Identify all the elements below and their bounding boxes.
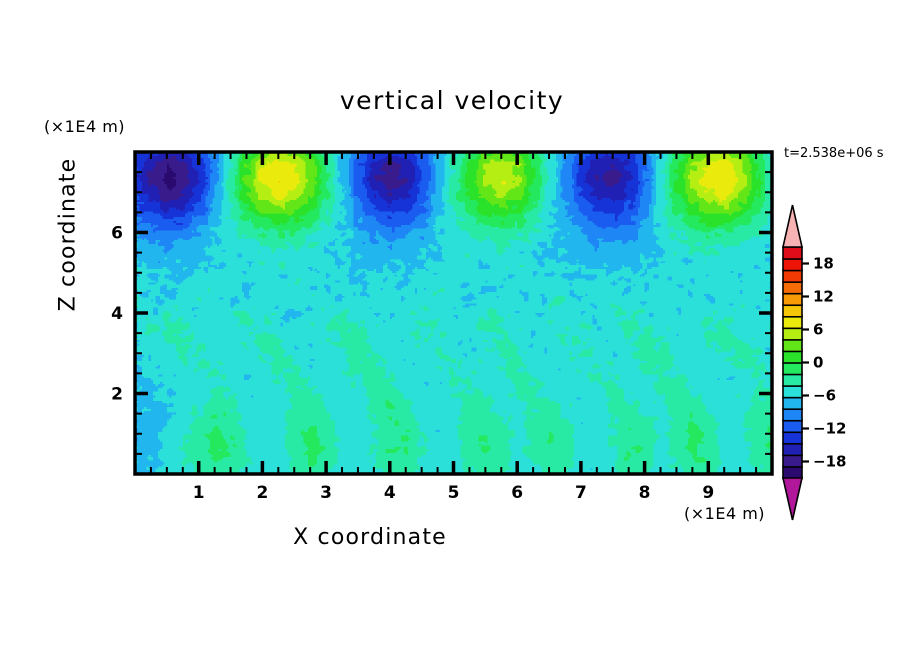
colorbar-band bbox=[783, 282, 802, 294]
colorbar-cap-low bbox=[783, 478, 802, 520]
colorbar-cap-high bbox=[783, 205, 802, 247]
colorbar-tick-label: 12 bbox=[813, 288, 834, 306]
colorbar-band bbox=[783, 420, 802, 432]
y-tick-label: 4 bbox=[111, 304, 123, 324]
x-tick-label: 7 bbox=[575, 483, 587, 503]
colorbar-band bbox=[783, 455, 802, 467]
x-tick-label: 8 bbox=[639, 483, 651, 503]
colorbar-band bbox=[783, 328, 802, 340]
colorbar-band bbox=[783, 432, 802, 444]
contour-plot: 123456789 246 181260−6−12−18 bbox=[0, 0, 904, 654]
colorbar-band bbox=[783, 247, 802, 259]
colorbar-band bbox=[783, 259, 802, 271]
colorbar-tick-label: −18 bbox=[813, 453, 846, 471]
colorbar-tick-label: −6 bbox=[813, 387, 836, 405]
colorbar-band bbox=[783, 386, 802, 398]
x-tick-label: 5 bbox=[448, 483, 460, 503]
x-tick-label: 1 bbox=[193, 483, 205, 503]
x-tick-label: 3 bbox=[320, 483, 332, 503]
colorbar-band bbox=[783, 409, 802, 421]
colorbar-tick-label: −12 bbox=[813, 420, 846, 438]
colorbar-tick-label: 18 bbox=[813, 255, 834, 273]
colorbar-tick-label: 6 bbox=[813, 321, 823, 339]
colorbar-band bbox=[783, 339, 802, 351]
colorbar-band bbox=[783, 293, 802, 305]
x-tick-label: 2 bbox=[256, 483, 268, 503]
colorbar-band bbox=[783, 397, 802, 409]
y-tick-label: 2 bbox=[111, 385, 123, 405]
x-tick-label: 6 bbox=[511, 483, 523, 503]
colorbar-band bbox=[783, 316, 802, 328]
x-tick-label: 9 bbox=[702, 483, 714, 503]
colorbar[interactable]: 181260−6−12−18 bbox=[783, 205, 846, 520]
x-tick-label: 4 bbox=[384, 483, 396, 503]
colorbar-band bbox=[783, 466, 802, 478]
colorbar-band bbox=[783, 443, 802, 455]
colorbar-tick-label: 0 bbox=[813, 354, 823, 372]
y-tick-label: 6 bbox=[111, 224, 123, 244]
contour-field bbox=[135, 152, 773, 475]
colorbar-band bbox=[783, 351, 802, 363]
colorbar-band bbox=[783, 305, 802, 317]
colorbar-band bbox=[783, 270, 802, 282]
colorbar-band bbox=[783, 374, 802, 386]
colorbar-band bbox=[783, 363, 802, 375]
